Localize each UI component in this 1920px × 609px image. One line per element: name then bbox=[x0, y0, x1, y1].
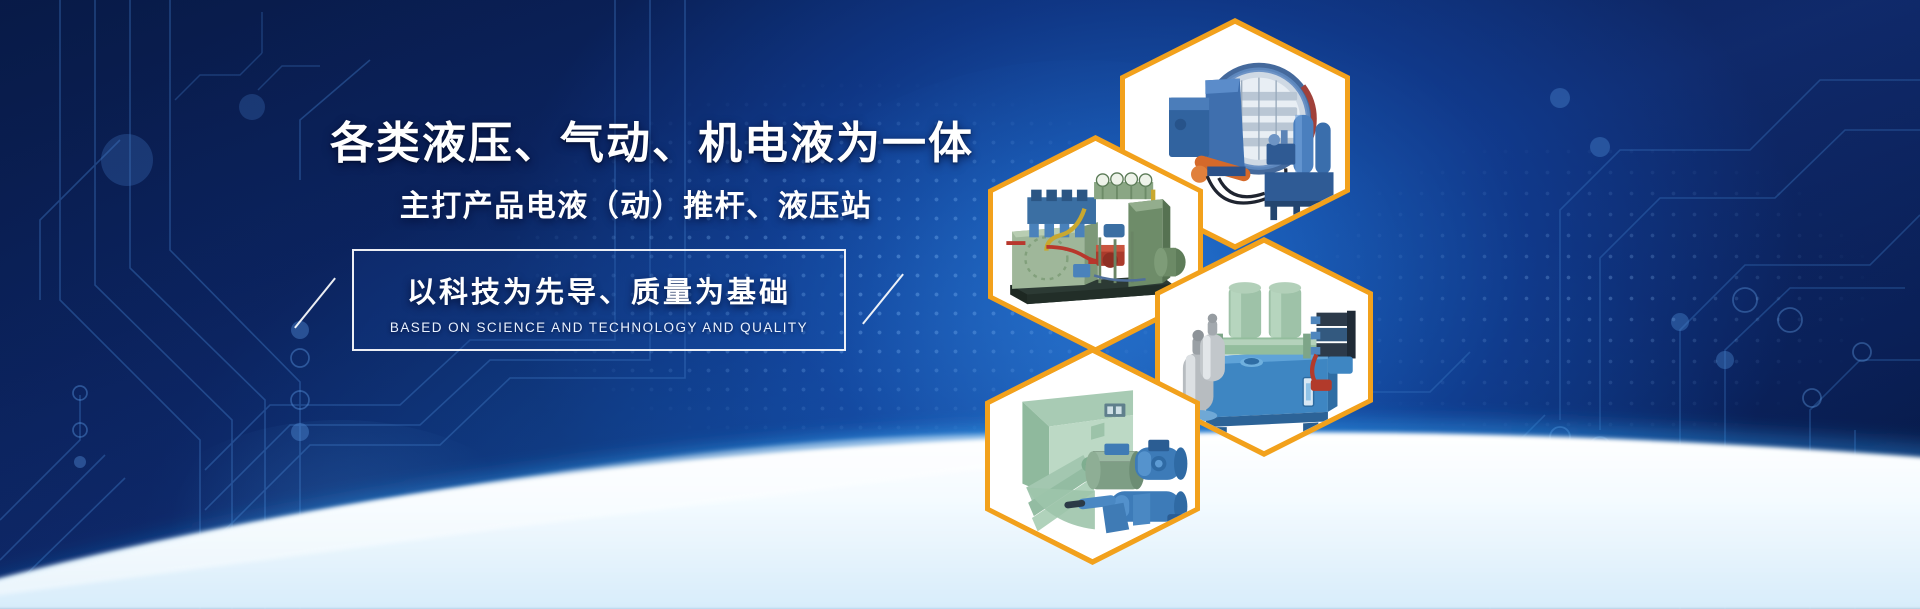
slogan-frame: 以科技为先导、质量为基础 BASED ON SCIENCE AND TECHNO… bbox=[352, 249, 846, 351]
slogan-frame-wrap: 以科技为先导、质量为基础 BASED ON SCIENCE AND TECHNO… bbox=[352, 249, 846, 351]
banner-subline: 主打产品电液（动）推杆、液压站 bbox=[330, 181, 970, 225]
electro-hydraulic-pusher-image bbox=[990, 353, 1195, 559]
decorative-slash-left bbox=[294, 278, 336, 329]
banner-text-block: 各类液压、气动、机电液为一体 主打产品电液（动）推杆、液压站 以科技为先导、质量… bbox=[330, 118, 970, 351]
slogan-chinese: 以科技为先导、质量为基础 bbox=[364, 269, 834, 311]
glow-lower-left bbox=[130, 420, 550, 609]
hero-banner: 各类液压、气动、机电液为一体 主打产品电液（动）推杆、液压站 以科技为先导、质量… bbox=[0, 0, 1920, 609]
hexagon-image-frame bbox=[990, 353, 1195, 559]
decorative-slash-right bbox=[862, 274, 904, 325]
banner-headline: 各类液压、气动、机电液为一体 bbox=[330, 118, 970, 169]
product-hexagon-collage bbox=[955, 0, 1485, 609]
slogan-english: BASED ON SCIENCE AND TECHNOLOGY AND QUAL… bbox=[364, 320, 834, 335]
